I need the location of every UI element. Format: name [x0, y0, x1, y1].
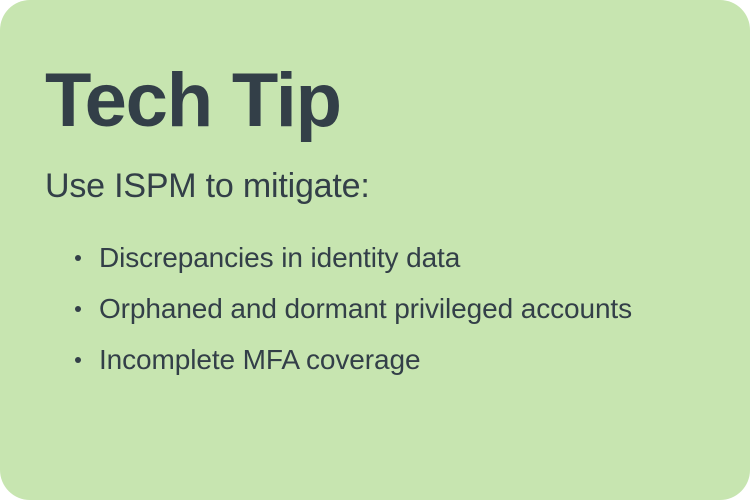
- card-content: Tech Tip Use ISPM to mitigate: Discrepan…: [45, 0, 705, 500]
- bullet-dot-icon: [75, 255, 81, 261]
- tech-tip-card: Tech Tip Use ISPM to mitigate: Discrepan…: [0, 0, 750, 500]
- list-item: Discrepancies in identity data: [75, 238, 650, 278]
- tip-bullet-list: Discrepancies in identity data Orphaned …: [75, 238, 650, 380]
- bullet-dot-icon: [75, 357, 81, 363]
- bullet-dot-icon: [75, 306, 81, 312]
- list-item-label: Discrepancies in identity data: [99, 242, 460, 273]
- list-item: Orphaned and dormant privileged accounts: [75, 289, 650, 329]
- list-item-label: Incomplete MFA coverage: [99, 344, 420, 375]
- list-item-label: Orphaned and dormant privileged accounts: [99, 293, 632, 324]
- subtitle: Use ISPM to mitigate:: [45, 166, 370, 206]
- page-title: Tech Tip: [45, 63, 341, 139]
- list-item: Incomplete MFA coverage: [75, 340, 650, 380]
